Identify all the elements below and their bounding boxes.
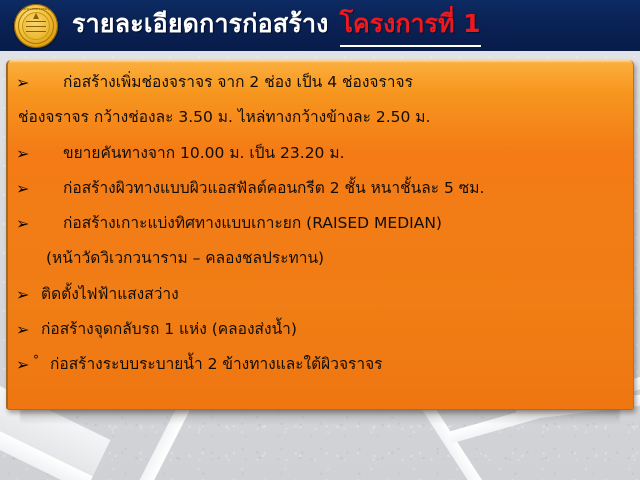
arrow-bullet-icon: ➢ <box>16 181 33 197</box>
degree-mark-icon: ° <box>33 354 41 367</box>
detail-line: ➢ขยายคันทางจาก 10.00 ม. เป็น 23.20 ม. <box>16 145 625 161</box>
detail-line: ➢ก่อสร้างเพิ่มช่องจราจร จาก 2 ช่อง เป็น … <box>16 74 625 90</box>
arrow-bullet-icon: ➢ <box>16 216 33 232</box>
seal-center-motif <box>26 17 46 35</box>
slide-canvas: กรมทางหลวงชนบท รายละเอียดการก่อสร้าง โคร… <box>0 0 640 480</box>
arrow-bullet-icon: ➢ <box>16 287 33 303</box>
detail-line-text: ก่อสร้างเพิ่มช่องจราจร จาก 2 ช่อง เป็น 4… <box>33 74 413 90</box>
detail-line-text: ขยายคันทางจาก 10.00 ม. เป็น 23.20 ม. <box>33 145 345 161</box>
detail-line-text: ติดตั้งไฟฟ้าแสงสว่าง <box>33 286 179 302</box>
detail-line-text: (หน้าวัดวิเวกวนาราม – คลองชลประทาน) <box>16 250 324 266</box>
slide-header-bar: กรมทางหลวงชนบท รายละเอียดการก่อสร้าง โคร… <box>0 0 640 51</box>
page-title: รายละเอียดการก่อสร้าง <box>72 4 329 44</box>
detail-line: ➢°ก่อสร้างระบบระบายน้ำ 2 ข้างทางและใต้ผิ… <box>16 356 625 372</box>
arrow-bullet-icon: ➢ <box>16 75 33 91</box>
detail-line: ➢ก่อสร้างผิวทางแบบผิวแอสฟัลต์คอนกรีต 2 ช… <box>16 180 625 196</box>
detail-line: ช่องจราจร กว้างช่องละ 3.50 ม. ไหล่ทางกว้… <box>16 109 625 125</box>
detail-line-text: ก่อสร้างเกาะแบ่งทิศทางแบบเกาะยก (RAISED … <box>33 215 442 231</box>
panel-drop-shadow <box>20 408 620 424</box>
header-title-group: รายละเอียดการก่อสร้าง โครงการที่ 1 <box>72 4 481 47</box>
detail-line-text: ก่อสร้างจุดกลับรถ 1 แห่ง (คลองส่งน้ำ) <box>33 321 297 337</box>
detail-line: ➢ติดตั้งไฟฟ้าแสงสว่าง <box>16 286 625 302</box>
detail-line: ➢ก่อสร้างจุดกลับรถ 1 แห่ง (คลองส่งน้ำ) <box>16 321 625 337</box>
construction-details-list: ➢ก่อสร้างเพิ่มช่องจราจร จาก 2 ช่อง เป็น … <box>16 74 625 372</box>
detail-line-text: ก่อสร้างผิวทางแบบผิวแอสฟัลต์คอนกรีต 2 ชั… <box>33 180 484 196</box>
arrow-bullet-icon: ➢ <box>16 146 33 162</box>
detail-line-text: ช่องจราจร กว้างช่องละ 3.50 ม. ไหล่ทางกว้… <box>16 109 430 125</box>
content-panel: ➢ก่อสร้างเพิ่มช่องจราจร จาก 2 ช่อง เป็น … <box>6 60 634 410</box>
detail-line: ➢ก่อสร้างเกาะแบ่งทิศทางแบบเกาะยก (RAISED… <box>16 215 625 231</box>
seal-arc-text: กรมทางหลวงชนบท <box>14 7 58 12</box>
government-seal-icon: กรมทางหลวงชนบท <box>14 4 58 48</box>
arrow-bullet-icon: ➢ <box>16 357 33 373</box>
page-title-accent: โครงการที่ 1 <box>340 4 481 47</box>
arrow-bullet-icon: ➢ <box>16 322 33 338</box>
detail-line: (หน้าวัดวิเวกวนาราม – คลองชลประทาน) <box>16 250 625 266</box>
detail-line-text: ก่อสร้างระบบระบายน้ำ 2 ข้างทางและใต้ผิวจ… <box>41 356 382 372</box>
